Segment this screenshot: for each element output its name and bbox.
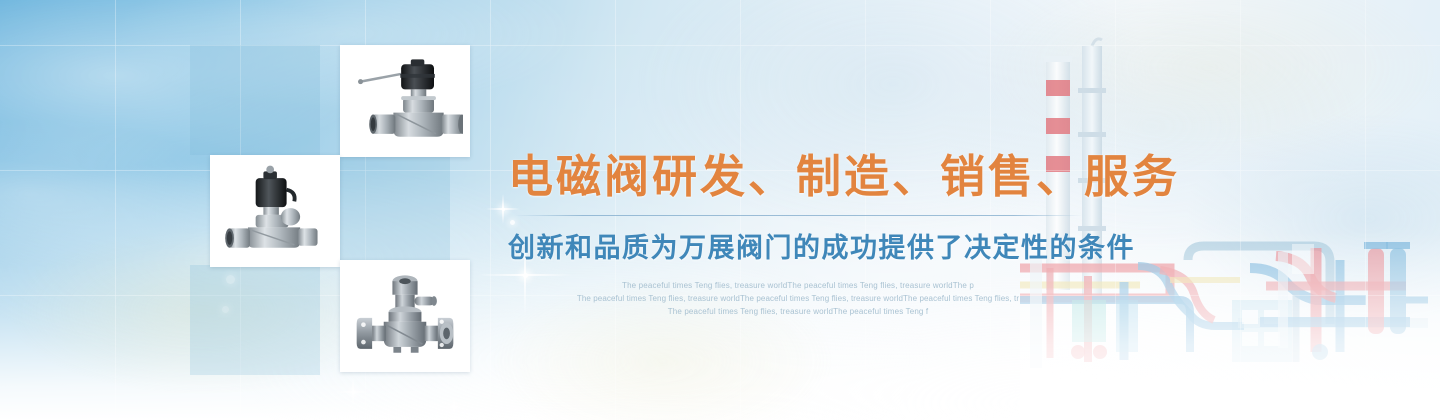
product-thumbnail-2[interactable] [210, 155, 340, 267]
tile-accent-block [190, 265, 320, 375]
bokeh-dot [222, 306, 229, 313]
hero-copy: 电磁阀研发、制造、销售、服务 创新和品质为万展阀门的成功提供了决定性的条件 Th… [508, 150, 1088, 319]
tile-accent-block [190, 45, 320, 155]
headline-divider [514, 215, 1082, 216]
product-thumbnail-1[interactable] [340, 45, 470, 157]
blurb-line-1: The peaceful times Teng flies, treasure … [508, 279, 1088, 292]
hero-headline: 电磁阀研发、制造、销售、服务 [508, 150, 1088, 203]
blurb-line-3: The peaceful times Teng flies, treasure … [508, 305, 1088, 318]
hero-subheadline: 创新和品质为万展阀门的成功提供了决定性的条件 [508, 226, 1088, 265]
bokeh-dot [226, 275, 235, 284]
hero-blurb: The peaceful times Teng flies, treasure … [508, 279, 1088, 319]
blurb-line-2: The peaceful times Teng flies, treasure … [508, 292, 1088, 305]
product-thumbnail-3[interactable] [340, 260, 470, 372]
hero-banner: 电磁阀研发、制造、销售、服务 创新和品质为万展阀门的成功提供了决定性的条件 Th… [0, 0, 1440, 420]
product-tile-grid [190, 45, 510, 365]
